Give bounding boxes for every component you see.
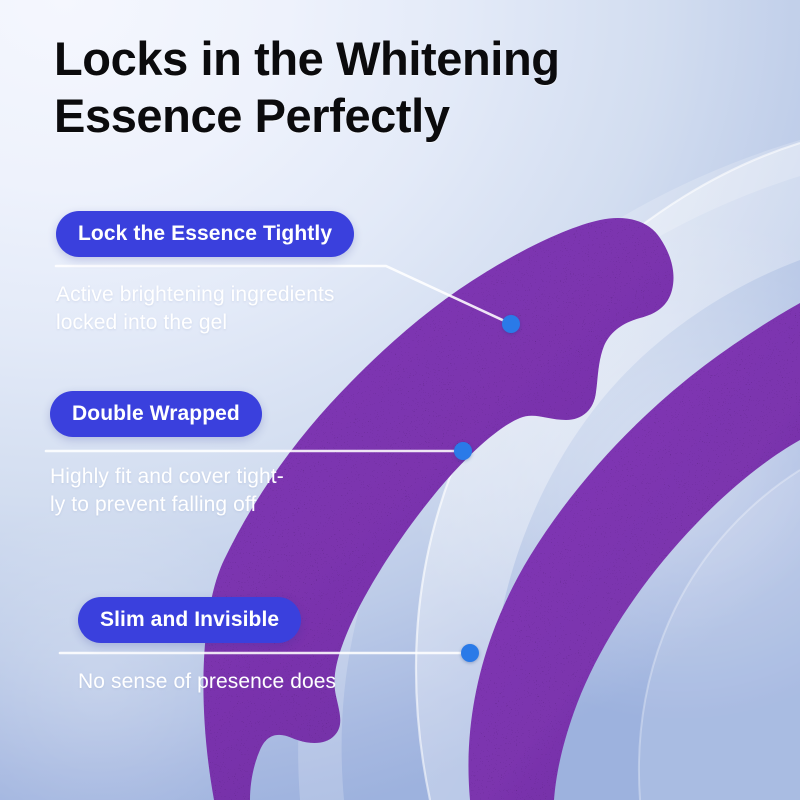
caption-line-1: Highly fit and cover tight- bbox=[50, 465, 284, 488]
headline-line-2: Essence Perfectly bbox=[54, 89, 450, 142]
caption-line-2: locked into the gel bbox=[56, 311, 227, 334]
feature-caption-double-wrapped: Highly fit and cover tight- ly to preven… bbox=[50, 463, 380, 519]
callout-dot-double-wrapped[interactable] bbox=[454, 442, 472, 460]
caption-line-1: No sense of presence does bbox=[78, 670, 336, 693]
background-highlight-bloom bbox=[300, 120, 800, 800]
caption-line-1: Active brightening ingredients bbox=[56, 283, 335, 306]
feature-badge-double-wrapped[interactable]: Double Wrapped bbox=[50, 391, 262, 437]
feature-block-double-wrapped: Double Wrapped bbox=[50, 391, 262, 437]
caption-line-2: ly to prevent falling off bbox=[50, 493, 256, 516]
feature-block-slim-and-invisible: Slim and Invisible bbox=[78, 597, 301, 643]
page-title: Locks in the Whitening Essence Perfectly bbox=[54, 30, 654, 145]
infographic-poster: Locks in the Whitening Essence Perfectly… bbox=[0, 0, 800, 800]
feature-caption-slim-and-invisible: No sense of presence does bbox=[78, 668, 418, 696]
headline-line-1: Locks in the Whitening bbox=[54, 32, 560, 85]
feature-block-lock-the-essence-tightly: Lock the Essence Tightly bbox=[56, 211, 354, 257]
feature-caption-lock-the-essence-tightly: Active brightening ingredients locked in… bbox=[56, 281, 386, 337]
feature-badge-lock-the-essence-tightly[interactable]: Lock the Essence Tightly bbox=[56, 211, 354, 257]
callout-dot-slim-and-invisible[interactable] bbox=[461, 644, 479, 662]
feature-badge-slim-and-invisible[interactable]: Slim and Invisible bbox=[78, 597, 301, 643]
callout-dot-lock-the-essence-tightly[interactable] bbox=[502, 315, 520, 333]
